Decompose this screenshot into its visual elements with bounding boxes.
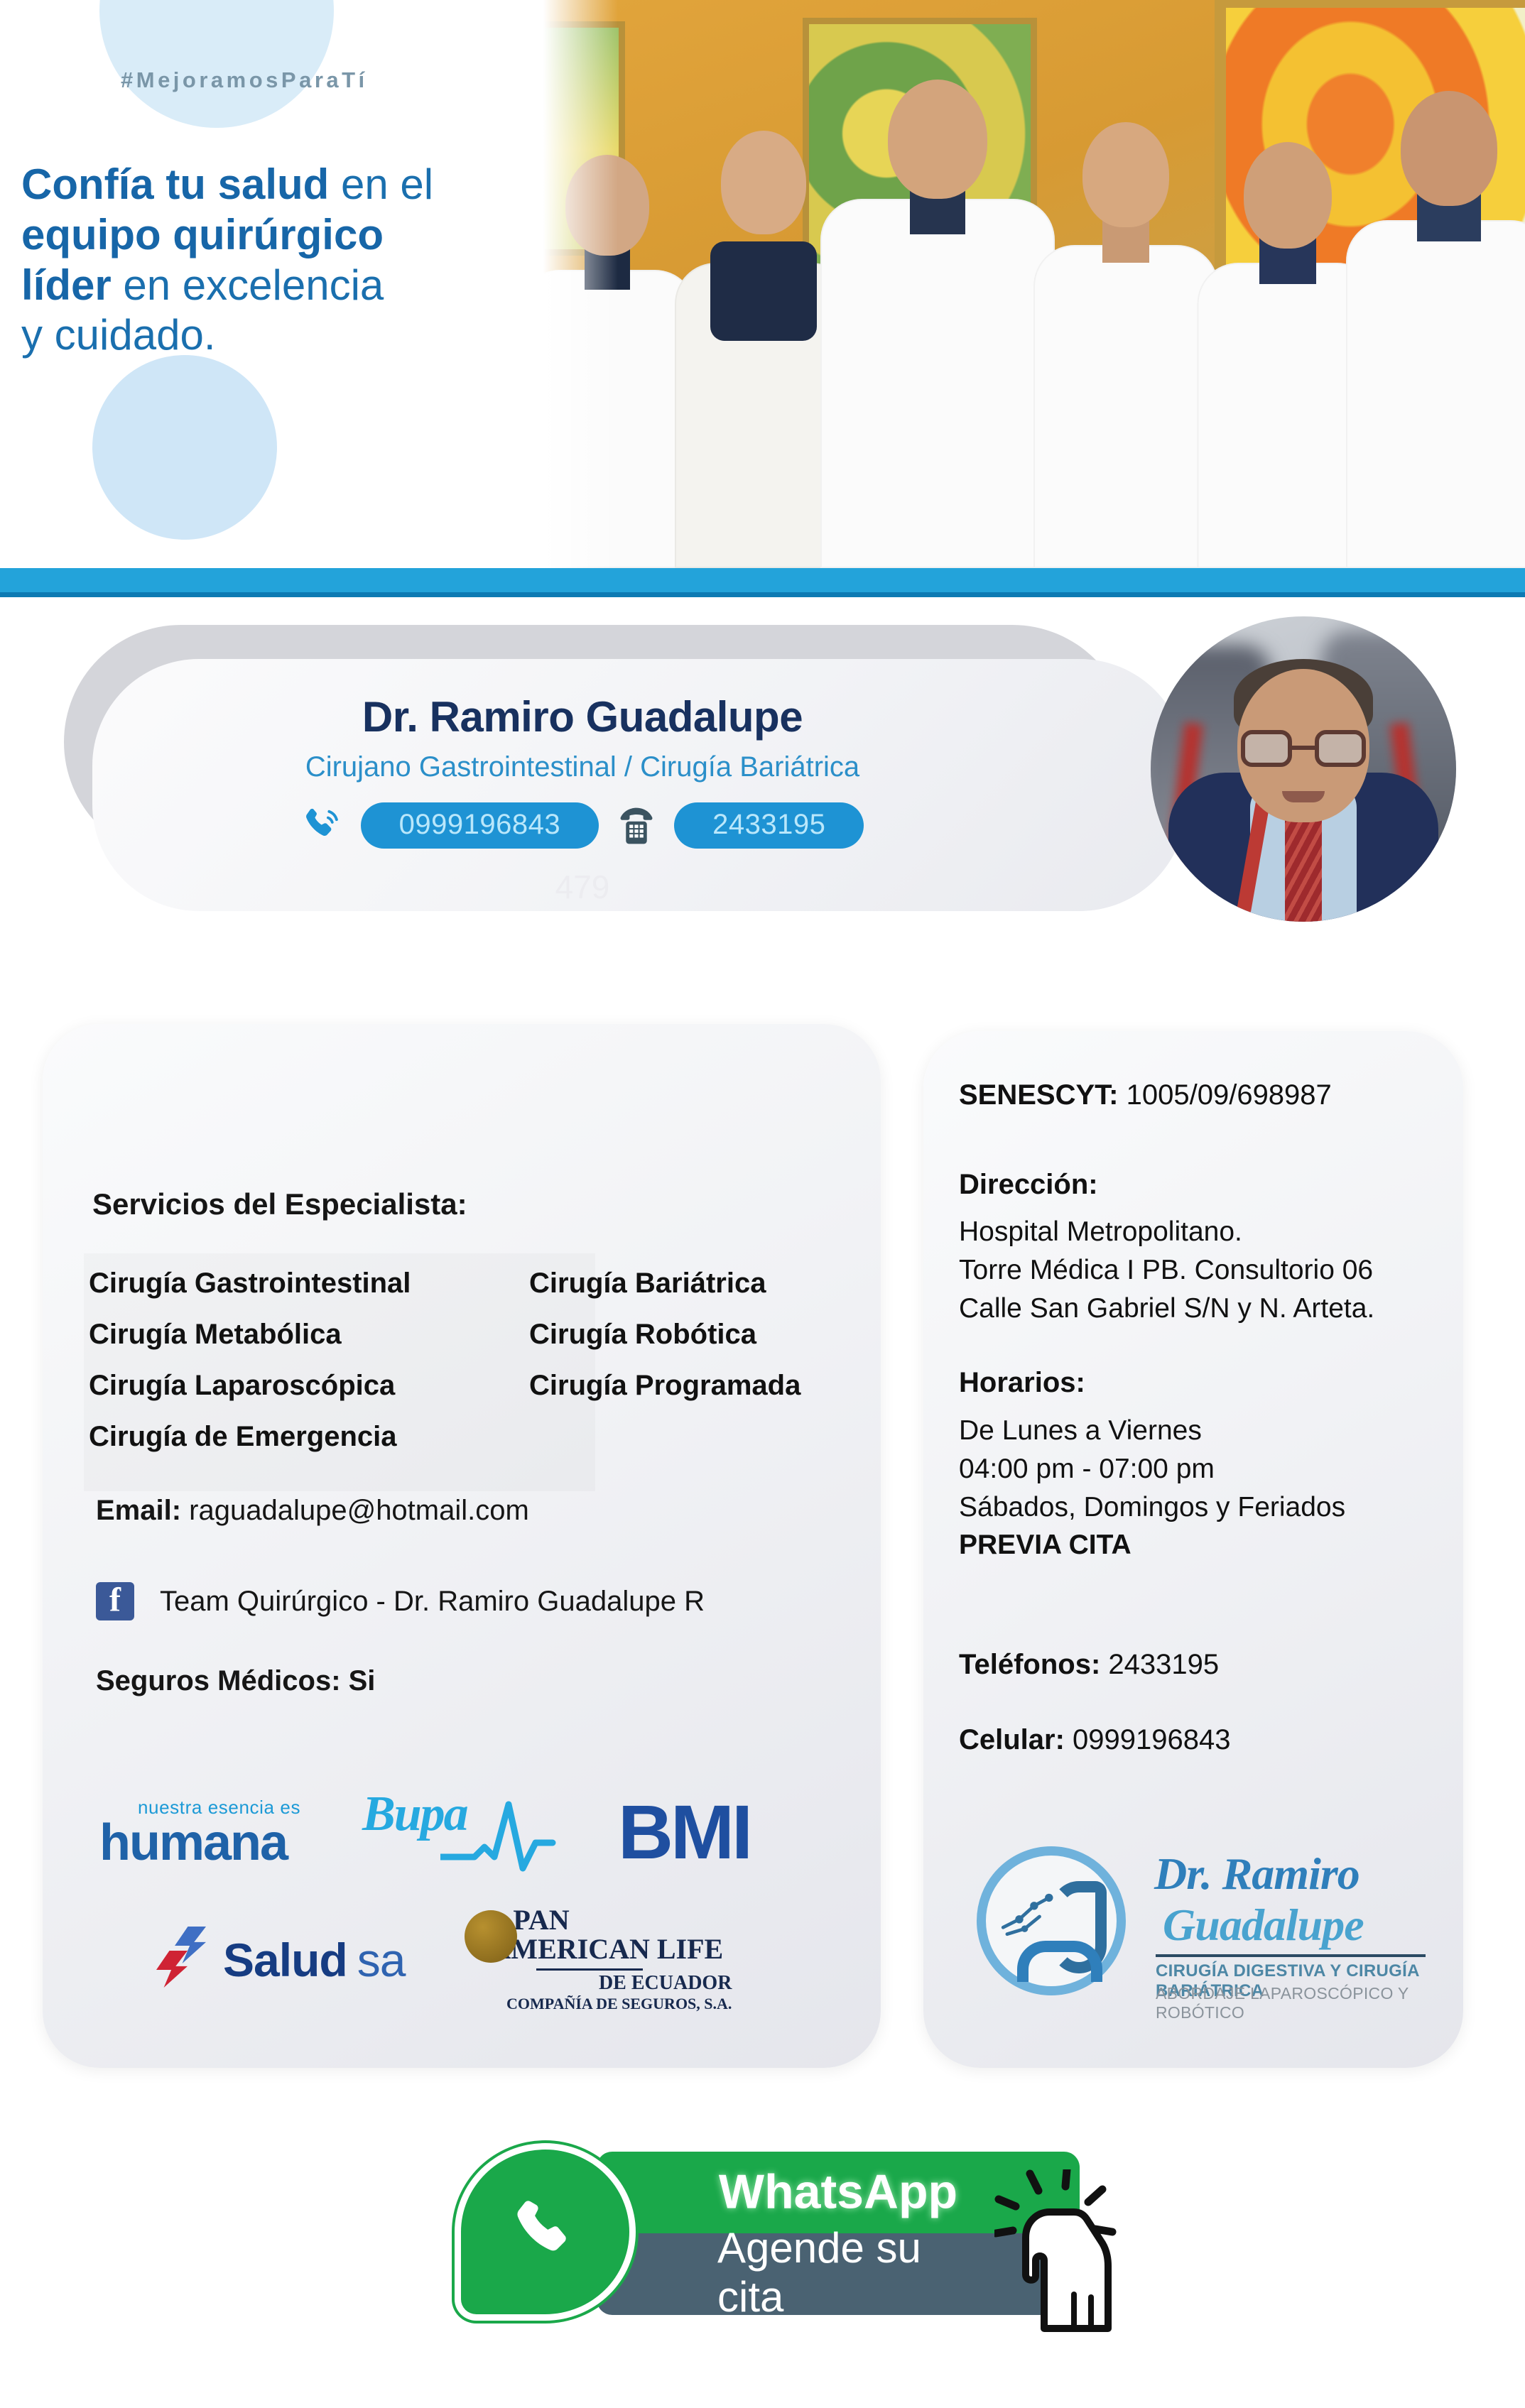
headline-rest-3: en excelencia — [112, 261, 384, 309]
whatsapp-title: WhatsApp — [719, 2164, 957, 2219]
cell-label: Celular: — [959, 1724, 1065, 1755]
eyeglasses-icon — [1241, 730, 1366, 767]
headline-bold-3: líder — [21, 261, 112, 309]
email-row: Email: raguadalupe@hotmail.com — [96, 1495, 529, 1527]
phones-row: Teléfonos: 2433195 — [959, 1649, 1219, 1681]
bmi-logo: BMI — [618, 1794, 750, 1870]
hero-banner: #MejoramosParaTí Confía tu salud en el e… — [0, 0, 1525, 568]
headline-rest-1: en el — [329, 160, 433, 208]
phone-handset-icon — [506, 2191, 585, 2270]
practice-brand-logo: Dr. Ramiro Guadalupe CIRUGÍA DIGESTIVA Y… — [977, 1839, 1431, 2010]
phones-label: Teléfonos: — [959, 1649, 1100, 1680]
blue-divider-shadow — [0, 592, 1525, 597]
facebook-page-name[interactable]: Team Quirúrgico - Dr. Ramiro Guadalupe R — [160, 1586, 705, 1618]
service-item: Cirugía Gastrointestinal — [89, 1268, 529, 1300]
service-item: Cirugía Metabólica — [89, 1319, 529, 1351]
service-item: Cirugía Programada — [529, 1370, 863, 1402]
panamerican-life-logo: PAN AMERICAN LIFE DE ECUADOR COMPAÑÍA DE… — [469, 1906, 732, 2013]
doctor-name: Dr. Ramiro Guadalupe — [0, 692, 1165, 741]
pan-line-3: DE ECUADOR — [469, 1973, 732, 1995]
insurance-logos-row-1: nuestra esencia es humana Bupa BMI — [99, 1775, 831, 1889]
robotic-stomach-emblem-icon — [977, 1846, 1126, 1995]
bupa-logo: Bupa — [362, 1786, 568, 1878]
banner-text-block: #MejoramosParaTí Confía tu salud en el e… — [0, 0, 540, 568]
blue-divider-bar — [0, 568, 1525, 592]
brand-name-line-2: Guadalupe — [1163, 1899, 1364, 1951]
facebook-row[interactable]: Team Quirúrgico - Dr. Ramiro Guadalupe R — [96, 1582, 705, 1620]
whatsapp-icon[interactable] — [455, 2143, 636, 2321]
doctor-portrait-avatar — [1151, 616, 1456, 922]
banner-hashtag: #MejoramosParaTí — [121, 67, 368, 93]
senescyt-value: 1005/09/698987 — [1119, 1079, 1332, 1111]
intestine-shape-icon — [1017, 1941, 1102, 1982]
cell-value[interactable]: 0999196843 — [1065, 1724, 1231, 1755]
saludsa-mark-icon — [156, 1927, 213, 1993]
team-member-lead — [820, 85, 1055, 568]
pan-divider — [536, 1968, 643, 1971]
phones-value[interactable]: 2433195 — [1100, 1649, 1219, 1680]
insurance-logos-row-2: Salud sa PAN AMERICAN LIFE DE ECUADOR CO… — [99, 1903, 831, 2017]
service-item: Cirugía Bariátrica — [529, 1268, 863, 1300]
address-label: Dirección: — [959, 1169, 1098, 1201]
photo-edge-fade — [497, 0, 618, 568]
pan-line-4: COMPAÑÍA DE SEGUROS, S.A. — [469, 1995, 732, 2013]
banner-headline: Confía tu salud en el equipo quirúrgico … — [21, 160, 519, 361]
senescyt-row: SENESCYT: 1005/09/698987 — [959, 1079, 1332, 1111]
team-member — [1346, 114, 1525, 568]
email-label: Email: — [96, 1495, 181, 1526]
bupa-pulse-icon — [440, 1792, 582, 1877]
mobile-number-badge[interactable]: 0999196843 — [361, 802, 599, 849]
hours-appointment-note: PREVIA CITA — [959, 1526, 1345, 1564]
team-member — [1033, 142, 1218, 568]
humana-logo: nuestra esencia es humana — [99, 1797, 313, 1867]
senescyt-label: SENESCYT: — [959, 1079, 1119, 1111]
watermark-number: 479 — [0, 868, 1165, 906]
humana-wordmark: humana — [99, 1819, 313, 1867]
team-photo — [497, 0, 1525, 568]
saludsa-wordmark-2: sa — [357, 1933, 406, 1987]
insurance-logos: nuestra esencia es humana Bupa BMI Salud… — [99, 1775, 831, 2017]
headline-line-4: y cuidado. — [21, 311, 216, 359]
whatsapp-subtitle: Agende su cita — [717, 2223, 959, 2315]
doctor-profile-page: #MejoramosParaTí Confía tu salud en el e… — [0, 0, 1525, 2408]
services-title: Servicios del Especialista: — [92, 1187, 467, 1221]
doctor-specialty: Cirujano Gastrointestinal / Cirugía Bari… — [0, 751, 1165, 783]
facebook-icon[interactable] — [96, 1582, 134, 1620]
hours-line-1: De Lunes a Viernes — [959, 1412, 1345, 1450]
hours-label: Horarios: — [959, 1367, 1085, 1399]
services-list: Cirugía Gastrointestinal Cirugía Bariátr… — [89, 1268, 863, 1453]
service-item: Cirugía Robótica — [529, 1319, 863, 1351]
service-item: Cirugía Laparoscópica — [89, 1370, 529, 1402]
address-value: Hospital Metropolitano. Torre Médica I P… — [959, 1213, 1374, 1327]
insurance-accepted-label: Seguros Médicos: Si — [96, 1665, 375, 1697]
portrait-mouth — [1282, 791, 1325, 802]
landline-number-badge[interactable]: 2433195 — [674, 802, 864, 849]
hours-line-2: 04:00 pm - 07:00 pm — [959, 1450, 1345, 1488]
email-value[interactable]: raguadalupe@hotmail.com — [181, 1495, 529, 1526]
hours-line-3: Sábados, Domingos y Feriados — [959, 1488, 1345, 1527]
brand-name-line-1: Dr. Ramiro — [1154, 1848, 1360, 1900]
click-hand-cursor-icon — [994, 2169, 1136, 2333]
service-item-empty — [529, 1421, 863, 1453]
mobile-phone-icon — [301, 804, 345, 848]
robotic-arm-icon — [999, 1890, 1067, 1944]
headline-bold-2: equipo quirúrgico — [21, 211, 384, 258]
landline-phone-icon — [614, 804, 658, 848]
saludsa-wordmark-1: Salud — [223, 1933, 347, 1987]
hours-value: De Lunes a Viernes 04:00 pm - 07:00 pm S… — [959, 1412, 1345, 1564]
brand-divider — [1156, 1954, 1426, 1957]
service-item: Cirugía de Emergencia — [89, 1421, 529, 1453]
whatsapp-cta[interactable]: WhatsApp Agende su cita — [455, 2130, 1129, 2336]
phone-badges-row: 0999196843 2433195 — [0, 802, 1165, 849]
cell-row: Celular: 0999196843 — [959, 1724, 1231, 1756]
headline-bold-1: Confía tu salud — [21, 160, 329, 208]
saludsa-logo: Salud sa — [156, 1927, 405, 1993]
brand-tagline-2: ABORDAJE LAPAROSCÓPICO Y ROBÓTICO — [1156, 1984, 1431, 2022]
